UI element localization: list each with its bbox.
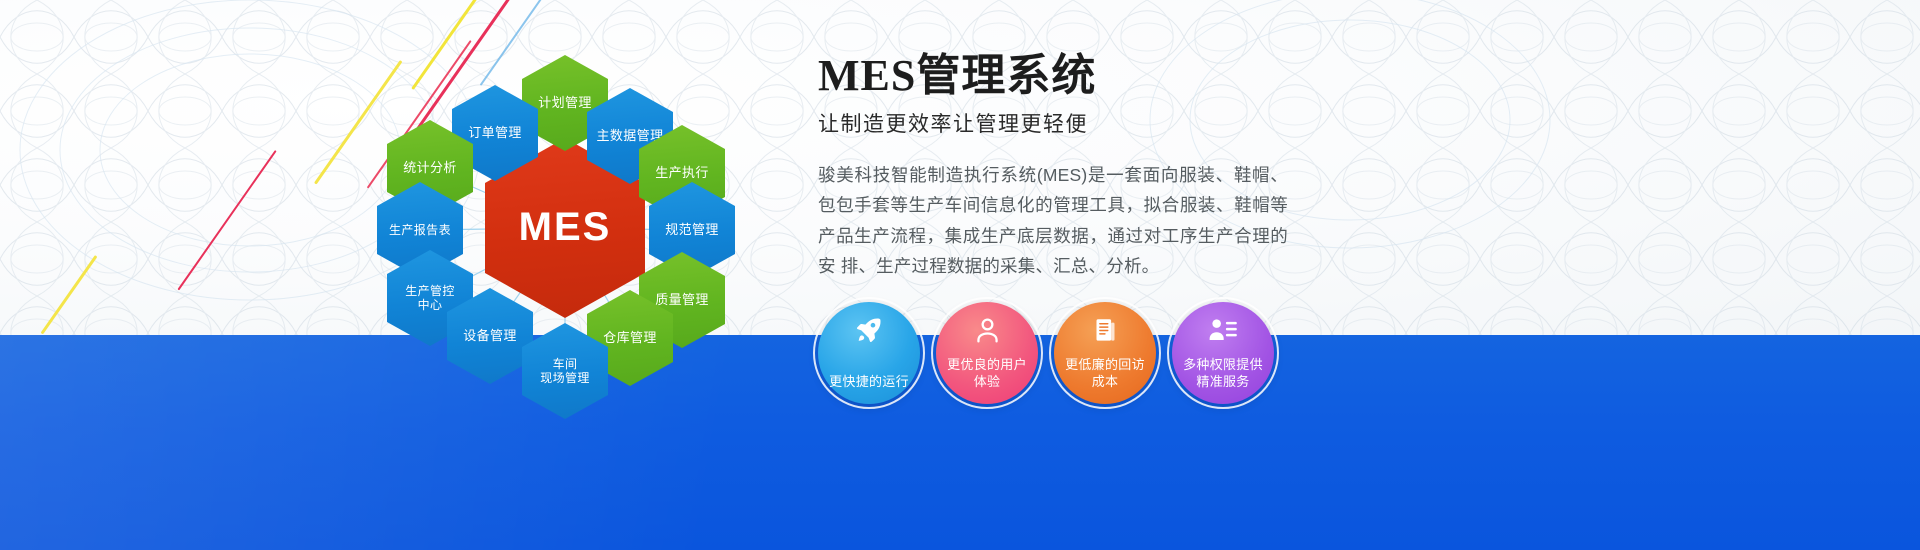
hex-node-label: 生产报告表 — [389, 223, 451, 237]
feature-badge-list: 更快捷的运行 更优良的用户体验 — [818, 302, 1274, 404]
page-title: MES管理系统 — [818, 52, 1868, 100]
hex-node-label: 订单管理 — [468, 125, 522, 140]
feature-badge-label: 更快捷的运行 — [825, 373, 913, 391]
rocket-icon — [853, 314, 885, 346]
mes-hexagon-diagram: MES 计划管理 订单管理 主数据管理 统计分析 生产执行 生产报告表 规范管理… — [330, 18, 800, 418]
hex-node-label: 生产执行 — [655, 165, 709, 180]
hex-node-label: 设备管理 — [463, 328, 517, 343]
feature-badge-label: 更优良的用户体验 — [943, 356, 1031, 391]
feature-badge-2[interactable]: 更低廉的回访成本 — [1054, 302, 1156, 404]
hex-node-label: 仓库管理 — [603, 330, 657, 345]
feature-badge-label: 多种权限提供精准服务 — [1179, 356, 1267, 391]
mes-promo-banner: MES 计划管理 订单管理 主数据管理 统计分析 生产执行 生产报告表 规范管理… — [0, 0, 1920, 550]
hex-node-label: 规范管理 — [665, 222, 719, 237]
hex-node-label: 计划管理 — [538, 95, 592, 110]
feature-badge-0[interactable]: 更快捷的运行 — [818, 302, 920, 404]
user-list-icon — [1207, 314, 1239, 346]
hex-node-label: 车间 现场管理 — [540, 357, 590, 385]
document-icon — [1089, 314, 1121, 346]
user-icon — [971, 314, 1003, 346]
feature-badge-3[interactable]: 多种权限提供精准服务 — [1172, 302, 1274, 404]
hex-node-label: 质量管理 — [655, 292, 709, 307]
feature-badge-1[interactable]: 更优良的用户体验 — [936, 302, 1038, 404]
hero-text-block: MES管理系统 让制造更效率让管理更轻便 骏美科技智能制造执行系统(MES)是一… — [818, 52, 1868, 281]
hex-node-label: 生产管控 中心 — [405, 284, 455, 312]
page-subtitle: 让制造更效率让管理更轻便 — [818, 108, 1868, 138]
hero-description: 骏美科技智能制造执行系统(MES)是一套面向服装、鞋帽、包包手套等生产车间信息化… — [818, 160, 1288, 280]
hex-node-label: 统计分析 — [403, 160, 457, 175]
hex-center-label: MES — [519, 204, 612, 251]
feature-badge-label: 更低廉的回访成本 — [1061, 356, 1149, 391]
